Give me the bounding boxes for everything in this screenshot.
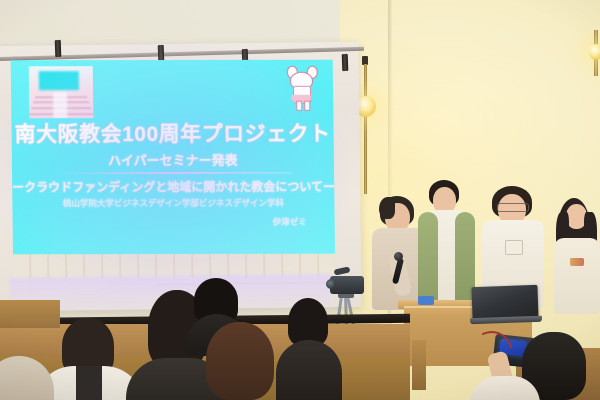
- glasses-icon: [497, 203, 529, 212]
- camera-lens-icon: [326, 279, 336, 289]
- mascot-leg: [296, 101, 302, 111]
- slide-title: 南大阪教会100周年プロジェクト: [11, 118, 333, 149]
- lectern-leg: [412, 340, 426, 390]
- presenter-jacket-left: [418, 212, 438, 308]
- blue-item-on-lectern: [418, 296, 434, 305]
- shirt-pocket: [505, 240, 523, 255]
- binder-clip-icon: [55, 40, 62, 57]
- photo-sky: [39, 71, 79, 90]
- projected-slide: 南大阪教会100周年プロジェクト ハイパーセミナー発表 ークラウドファンディング…: [11, 60, 336, 279]
- microphone-head-icon: [394, 252, 403, 261]
- presentation-photo-scene: 南大阪教会100周年プロジェクト ハイパーセミナー発表 ークラウドファンディング…: [0, 0, 600, 400]
- slide-organization: 桃山学院大学ビジネスデザイン学部ビジネスデザイン学科: [12, 197, 334, 210]
- laptop-screen[interactable]: [471, 285, 538, 320]
- shirt-graphic: [570, 258, 584, 266]
- slide-theme-line: ークラウドファンディングと地域に開かれた教会についてー: [12, 178, 334, 196]
- slide-church-photo: [29, 66, 94, 118]
- audience-hair: [288, 298, 328, 346]
- audience-collar: [76, 366, 102, 400]
- lamp-pole: [364, 64, 367, 194]
- audience-shoulders: [276, 340, 342, 400]
- pew-left-end: [0, 300, 60, 328]
- presenter-hair-side: [379, 197, 395, 219]
- slide-surface: 南大阪教会100周年プロジェクト ハイパーセミナー発表 ークラウドファンディング…: [11, 60, 336, 279]
- photo-aisle: [53, 92, 67, 118]
- slide-mascot-icon: [285, 66, 320, 110]
- audience-hair: [206, 322, 274, 400]
- mascot-leg: [304, 101, 310, 111]
- presenter-torso: [554, 238, 600, 314]
- binder-clip-icon: [342, 54, 349, 71]
- lamp-globe-icon: [589, 44, 600, 60]
- slide-divider: [56, 172, 292, 174]
- slide-seminar-name: 伊津ゼミ: [273, 216, 307, 228]
- slide-subtitle: ハイパーセミナー発表: [12, 150, 334, 170]
